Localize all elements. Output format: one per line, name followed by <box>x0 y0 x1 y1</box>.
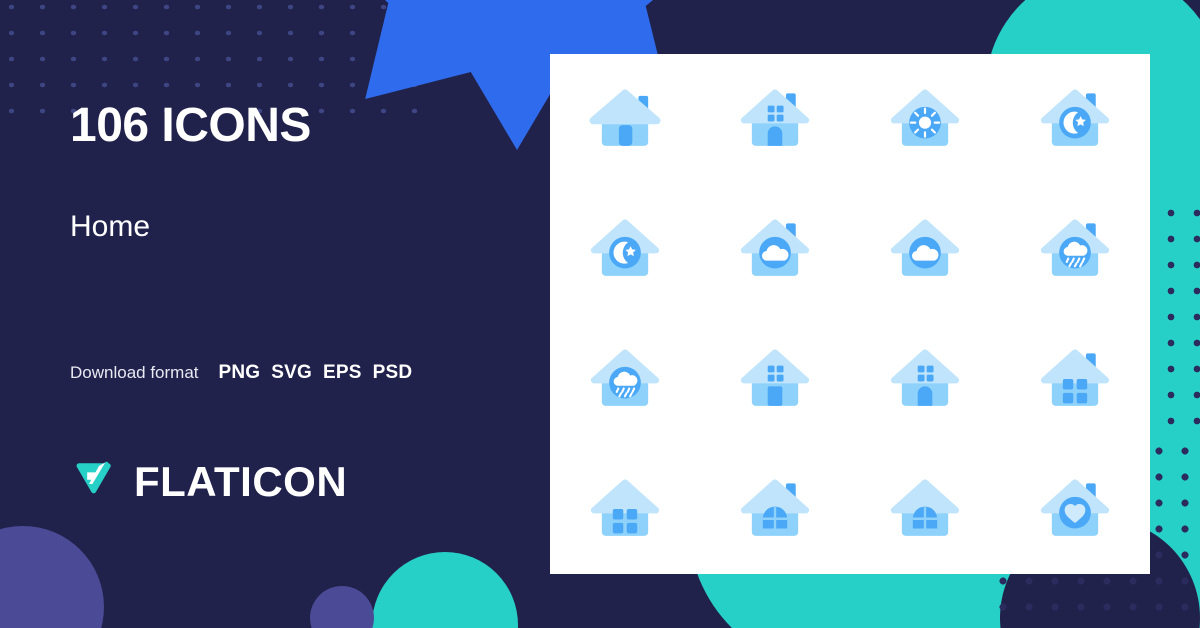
icon-cell-house-four-panes-plain-icon[interactable] <box>550 444 700 574</box>
icon-cell-house-arch-window-icon[interactable] <box>700 444 850 574</box>
icon-preview-grid <box>550 54 1150 574</box>
format-eps[interactable]: EPS <box>323 362 362 384</box>
icon-cell-house-four-panes-icon[interactable] <box>1000 314 1150 444</box>
icon-cell-house-door-icon[interactable] <box>550 54 700 184</box>
flaticon-pack-banner: 106 ICONS Home Download format PNG SVG E… <box>0 0 1200 628</box>
flaticon-logo[interactable]: FLATICON <box>75 460 347 504</box>
icon-cell-house-moon-star-icon[interactable] <box>1000 54 1150 184</box>
format-psd[interactable]: PSD <box>373 362 413 384</box>
download-format-row: Download format PNG SVG EPS PSD <box>70 362 412 384</box>
icon-cell-house-window-arch-door-2-icon[interactable] <box>850 314 1000 444</box>
icon-cell-house-rain-plain-icon[interactable] <box>550 314 700 444</box>
format-list: PNG SVG EPS PSD <box>219 362 413 384</box>
info-column: 106 ICONS Home Download format PNG SVG E… <box>70 0 520 628</box>
format-png[interactable]: PNG <box>219 362 261 384</box>
pack-name: Home <box>70 212 150 242</box>
download-format-label: Download format <box>70 363 199 383</box>
icon-cell-house-cloud-plain-icon[interactable] <box>850 184 1000 314</box>
icon-cell-house-window-rect-door-icon[interactable] <box>700 314 850 444</box>
icon-cell-house-cloud-icon[interactable] <box>700 184 850 314</box>
icon-cell-house-window-arch-door-icon[interactable] <box>700 54 850 184</box>
format-svg[interactable]: SVG <box>271 362 312 384</box>
page-title: 106 ICONS <box>70 102 311 150</box>
icon-cell-house-rain-icon[interactable] <box>1000 184 1150 314</box>
flaticon-logo-icon <box>75 460 121 504</box>
icon-cell-house-sun-icon[interactable] <box>850 54 1000 184</box>
icon-cell-house-moon-star-plain-icon[interactable] <box>550 184 700 314</box>
flaticon-wordmark: FLATICON <box>134 461 347 503</box>
icon-cell-house-arch-window-plain-icon[interactable] <box>850 444 1000 574</box>
icon-cell-house-heart-icon[interactable] <box>1000 444 1150 574</box>
